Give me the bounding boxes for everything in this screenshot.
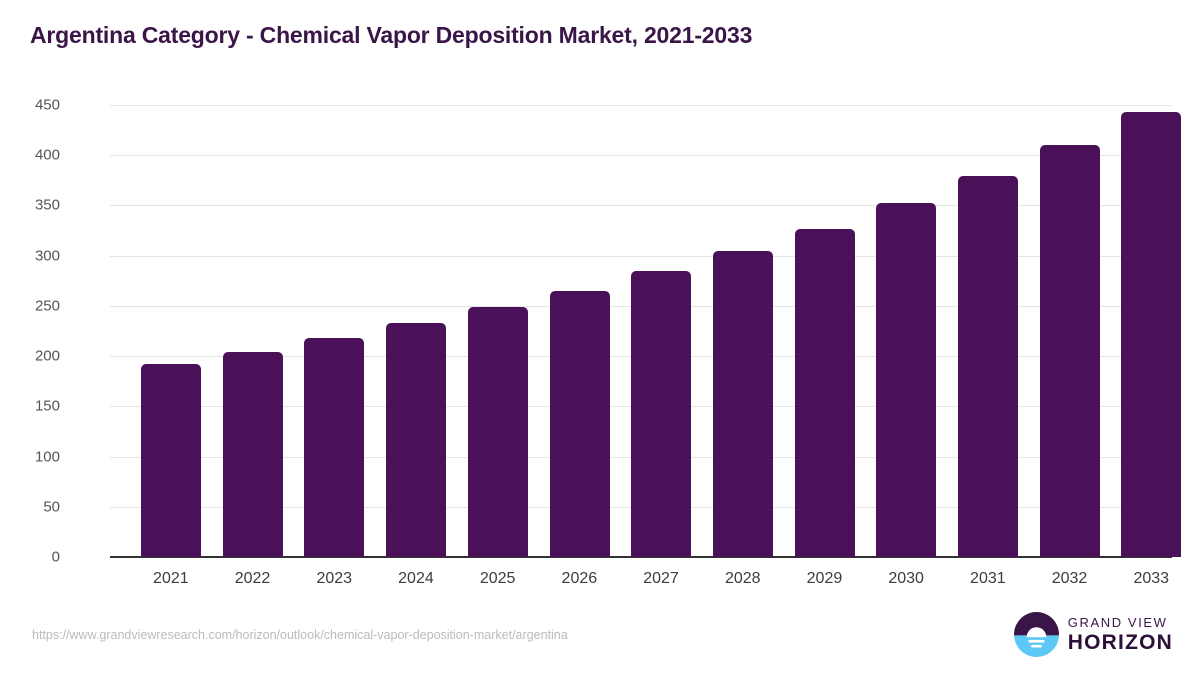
y-axis-tick-label: 0 [0, 549, 60, 566]
brand-name-line2: HORIZON [1068, 632, 1173, 653]
brand-logo-text: GRAND VIEW HORIZON [1068, 616, 1173, 653]
y-axis-tick-label: 300 [0, 247, 60, 264]
y-axis-tick-label: 350 [0, 197, 60, 214]
bar-slot [293, 105, 375, 557]
bar[interactable] [631, 271, 691, 557]
bar[interactable] [386, 323, 446, 557]
x-axis-tick-label: 2032 [1029, 570, 1111, 588]
bar-slot [865, 105, 947, 557]
bar-slot [620, 105, 702, 557]
bar-slot [539, 105, 621, 557]
x-axis-tick-label: 2030 [865, 570, 947, 588]
plot-area: 450400350300250200150100500 202120222023… [110, 105, 1172, 557]
bar-slot [1110, 105, 1192, 557]
bar-slot [212, 105, 294, 557]
bar[interactable] [958, 176, 1018, 557]
bar-slot [702, 105, 784, 557]
bar-slot [784, 105, 866, 557]
y-axis-tick-label: 400 [0, 147, 60, 164]
bar-slot [130, 105, 212, 557]
brand-name-line1: GRAND VIEW [1068, 616, 1173, 629]
bar[interactable] [795, 229, 855, 557]
bar[interactable] [1121, 112, 1181, 557]
bar[interactable] [550, 291, 610, 557]
bar[interactable] [141, 364, 201, 557]
x-axis-tick-label: 2029 [784, 570, 866, 588]
bar-slot [375, 105, 457, 557]
bar[interactable] [304, 338, 364, 557]
y-axis-tick-label: 250 [0, 297, 60, 314]
y-axis-tick-label: 450 [0, 97, 60, 114]
source-url[interactable]: https://www.grandviewresearch.com/horizo… [32, 628, 568, 642]
bar[interactable] [1040, 145, 1100, 557]
x-axis-tick-label: 2031 [947, 570, 1029, 588]
x-axis-tick-label: 2025 [457, 570, 539, 588]
x-axis-tick-label: 2028 [702, 570, 784, 588]
grand-view-horizon-sun-icon [1014, 612, 1059, 657]
x-axis-tick-label: 2021 [130, 570, 212, 588]
chart-page: Argentina Category - Chemical Vapor Depo… [0, 0, 1200, 675]
bar-slot [457, 105, 539, 557]
bar-slot [1029, 105, 1111, 557]
bar-series [110, 105, 1172, 557]
bar[interactable] [468, 307, 528, 557]
bar[interactable] [876, 203, 936, 557]
x-axis-tick-label: 2022 [212, 570, 294, 588]
page-title: Argentina Category - Chemical Vapor Depo… [30, 22, 752, 49]
y-axis-tick-label: 200 [0, 348, 60, 365]
x-axis-tick-label: 2027 [620, 570, 702, 588]
bar-slot [947, 105, 1029, 557]
x-axis-tick-label: 2026 [539, 570, 621, 588]
bar[interactable] [713, 251, 773, 557]
x-axis-tick-label: 2023 [293, 570, 375, 588]
x-axis-tick-label: 2024 [375, 570, 457, 588]
y-axis-tick-label: 50 [0, 498, 60, 515]
x-axis-tick-label: 2033 [1110, 570, 1192, 588]
y-axis-tick-label: 150 [0, 398, 60, 415]
bar[interactable] [223, 352, 283, 557]
brand-logo: GRAND VIEW HORIZON [1014, 612, 1173, 657]
y-axis-tick-label: 100 [0, 448, 60, 465]
